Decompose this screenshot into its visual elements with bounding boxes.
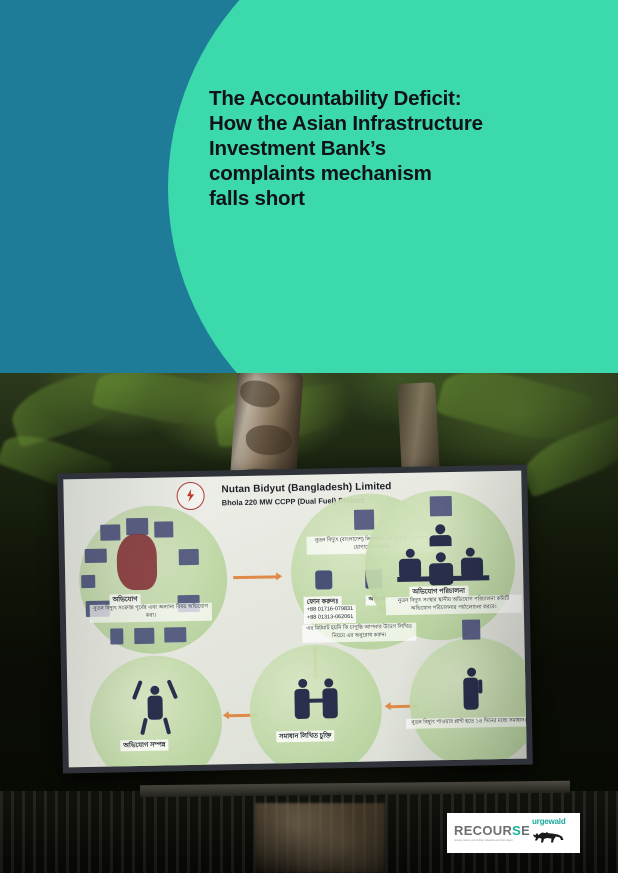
celebrating-person-head-icon xyxy=(150,686,159,695)
recourse-word-part-b: E xyxy=(521,823,530,838)
node2-phone-2: +88 01313-062061 xyxy=(304,613,357,624)
notice-board-icon xyxy=(462,619,480,639)
title-line-1: The Accountability Deficit: xyxy=(209,86,569,111)
node1-body: নুতন বিদ্যুৎ সংক্রান্ত পূর্বের এবং অন্যা… xyxy=(90,603,212,623)
celebrating-person-body-icon xyxy=(147,696,162,720)
buffalo-icon xyxy=(85,549,107,563)
walking-person-arm-icon xyxy=(478,679,482,693)
node5-heading: সমাধান লিখিত চুক্তি xyxy=(276,730,334,743)
lightbulb-icon xyxy=(110,628,123,644)
recourse-wordmark: RECOURSE xyxy=(454,824,528,837)
urgewald-wordmark: urgewald xyxy=(532,818,580,826)
smoke-icon xyxy=(154,521,173,537)
node3-body: নুতন বিদ্যুৎ সংস্থার স্থানীয় অভিযোগ পরিচ… xyxy=(386,595,522,615)
handshake-icon xyxy=(308,698,326,702)
phone-icon xyxy=(315,570,332,589)
transport-icon xyxy=(164,627,186,642)
recourse-logo: RECOURSE moving money out of dirty indus… xyxy=(454,824,528,842)
title-line-4: complaints mechanism xyxy=(209,161,569,186)
lightning-bolt-logo xyxy=(176,482,205,511)
signboard-face: Nutan Bidyut (Bangladesh) Limited Bhola … xyxy=(63,471,526,768)
handshake-person-head-icon xyxy=(298,679,307,688)
title-line-3: Investment Bank’s xyxy=(209,136,569,161)
committee-body-icon xyxy=(429,535,451,546)
cover-photograph: Nutan Bidyut (Bangladesh) Limited Bhola … xyxy=(0,373,618,873)
document-review-icon xyxy=(430,496,452,516)
grievance-signboard: Nutan Bidyut (Bangladesh) Limited Bhola … xyxy=(57,465,533,774)
partner-logo-lockup: RECOURSE moving money out of dirty indus… xyxy=(447,813,580,853)
report-cover-page: Nutan Bidyut (Bangladesh) Limited Bhola … xyxy=(0,0,618,873)
handshake-person-head-icon xyxy=(324,678,333,687)
fish-icon xyxy=(81,575,95,588)
wolf-icon xyxy=(532,827,566,844)
recourse-word-part-a: RECOUR xyxy=(454,823,512,838)
committee-body-icon xyxy=(429,563,453,585)
urgewald-logo: urgewald xyxy=(532,818,580,849)
node-mutual-agreement xyxy=(249,643,384,767)
title-line-2: How the Asian Infrastructure xyxy=(209,111,569,136)
distressed-person-icon xyxy=(116,534,157,591)
flow-arrow-right xyxy=(233,575,277,579)
recourse-tagline: moving money out of dirty industries and… xyxy=(454,839,528,842)
walking-person-body-icon xyxy=(463,677,479,709)
factory-icon xyxy=(126,518,148,535)
page-title: The Accountability Deficit: How the Asia… xyxy=(209,86,569,211)
tree-icon xyxy=(179,549,199,565)
committee-head-icon xyxy=(435,524,445,534)
handshake-person-body-icon xyxy=(294,689,310,719)
recourse-globe-icon: S xyxy=(512,823,521,838)
title-line-5: falls short xyxy=(209,186,569,211)
signboard-mid-note: এর মিটমাট হয়নি কি চাপুন্তি আপনার উদ্বেগ… xyxy=(302,623,416,643)
crowd-icon xyxy=(100,524,120,540)
pipe-icon xyxy=(134,628,154,644)
node4-heading: অভিযোগ সম্পন্ন xyxy=(120,739,168,751)
woodpile xyxy=(255,803,385,873)
person-icon xyxy=(354,509,374,529)
handshake-person-body-icon xyxy=(322,688,338,718)
